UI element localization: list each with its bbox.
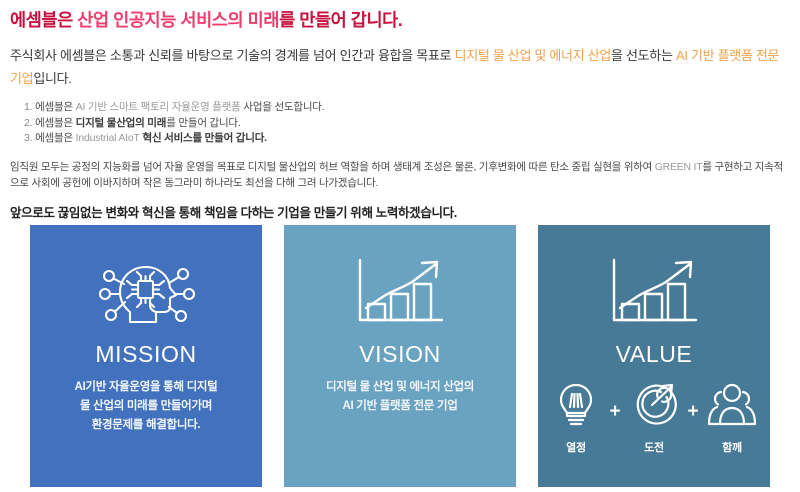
headline-part-2: 산업 인공지능 서비스의 미래 [77, 10, 279, 30]
card-desc-line: 디지털 물 산업 및 에너지 산업의 [326, 378, 474, 397]
value-cards-row: MISSION AI기반 자율운영을 통해 디지털 물 산업의 미래를 만들어가… [30, 225, 770, 487]
value-separator-plus: + [685, 402, 701, 421]
list-item-text-c: 를 만들어 갑니다. [166, 117, 240, 129]
card-description-vision: 디지털 물 산업 및 에너지 산업의 AI 기반 플랫폼 전문 기업 [312, 378, 488, 416]
intro-text-block: 에셈블은 산업 인공지능 서비스의 미래를 만들어 갑니다. 주식회사 에셈블은… [0, 0, 800, 222]
intro-segment-3: 을 선도하는 [611, 48, 676, 63]
intro-segment-1: 주식회사 에셈블은 소통과 신뢰를 바탕으로 기술의 경계를 넘어 인간과 융합… [10, 48, 455, 63]
card-mission[interactable]: MISSION AI기반 자율운영을 통해 디지털 물 산업의 미래를 만들어가… [30, 225, 262, 487]
page-title: 에셈블은 산업 인공지능 서비스의 미래를 만들어 갑니다. [10, 8, 790, 32]
list-item-text-highlight: Industrial AIoT [76, 132, 140, 144]
company-intro-page: 에셈블은 산업 인공지능 서비스의 미래를 만들어 갑니다. 주식회사 에셈블은… [0, 0, 800, 492]
list-item-text-a: 에셈블은 [32, 117, 75, 129]
body-paragraph: 임직원 모두는 공정의 지능화를 넘어 자율 운영을 목표로 디지털 물산업의 … [10, 159, 790, 191]
list-item: 3. 에셈블은 Industrial AIoT 혁신 서비스를 만들어 갑니다. [24, 131, 790, 147]
value-item-passion: 열정 [545, 382, 607, 455]
value-item-together: 함께 [701, 382, 763, 455]
card-desc-line: AI기반 자율운영을 통해 디지털 [75, 378, 218, 397]
headline-part-1: 에셈블은 [10, 10, 77, 30]
card-title-value: VALUE [616, 341, 693, 368]
value-label-passion: 열정 [566, 439, 586, 455]
body-segment-1: 임직원 모두는 공정의 지능화를 넘어 자율 운영을 목표로 디지털 물산업의 … [10, 161, 655, 173]
list-item: 1. 에셈블은 AI 기반 스마트 팩토리 자율운영 플랫폼 사업을 선도합니다… [24, 100, 790, 116]
list-item-text-c: 사업을 선도합니다. [241, 101, 325, 113]
card-title-mission: MISSION [95, 341, 196, 368]
ai-head-circuit-icon [94, 251, 198, 333]
value-label-together: 함께 [722, 439, 742, 455]
lightbulb-icon [554, 382, 598, 433]
list-item-text-highlight: AI 기반 스마트 팩토리 자율운영 플랫폼 [76, 101, 241, 113]
card-vision[interactable]: VISION 디지털 물 산업 및 에너지 산업의 AI 기반 플랫폼 전문 기… [284, 225, 516, 487]
intro-segment-5: 입니다. [33, 71, 71, 86]
value-item-challenge: 도전 [623, 382, 685, 455]
card-desc-line: AI 기반 플랫폼 전문 기업 [326, 397, 474, 416]
body-highlight-green-it: GREEN IT [655, 161, 703, 173]
growth-bar-chart-icon [604, 251, 704, 333]
team-people-icon [706, 382, 758, 433]
card-title-vision: VISION [359, 341, 441, 368]
list-item-text-c: 혁신 서비스를 만들어 갑니다. [140, 132, 267, 144]
list-item: 2. 에셈블은 디지털 물산업의 미래를 만들어 갑니다. [24, 116, 790, 132]
intro-paragraph: 주식회사 에셈블은 소통과 신뢰를 바탕으로 기술의 경계를 넘어 인간과 융합… [10, 44, 790, 90]
value-separator-plus: + [607, 402, 623, 421]
intro-highlight-industries: 디지털 물 산업 및 에너지 산업 [455, 48, 611, 63]
growth-bar-chart-icon [350, 251, 450, 333]
card-desc-line: 환경문제를 해결합니다. [75, 416, 218, 435]
card-desc-line: 물 산업의 미래를 만들어가며 [75, 397, 218, 416]
value-label-challenge: 도전 [644, 439, 664, 455]
list-item-text-a: 에셈블은 [32, 101, 75, 113]
list-item-text-highlight: 디지털 물산업의 미래 [76, 117, 167, 129]
card-description-mission: AI기반 자율운영을 통해 디지털 물 산업의 미래를 만들어가며 환경문제를 … [61, 378, 232, 435]
closing-statement: 앞으로도 끊임없는 변화와 혁신을 통해 책임을 다하는 기업을 만들기 위해 … [10, 204, 790, 222]
value-keywords-row: 열정 + 도전 + [545, 382, 763, 455]
target-arrow-icon [631, 382, 677, 433]
card-value[interactable]: VALUE 열정 + [538, 225, 770, 487]
numbered-statement-list: 1. 에셈블은 AI 기반 스마트 팩토리 자율운영 플랫폼 사업을 선도합니다… [10, 100, 790, 147]
list-item-text-a: 에셈블은 [32, 132, 75, 144]
headline-part-3: 를 만들어 갑니다. [279, 10, 402, 30]
